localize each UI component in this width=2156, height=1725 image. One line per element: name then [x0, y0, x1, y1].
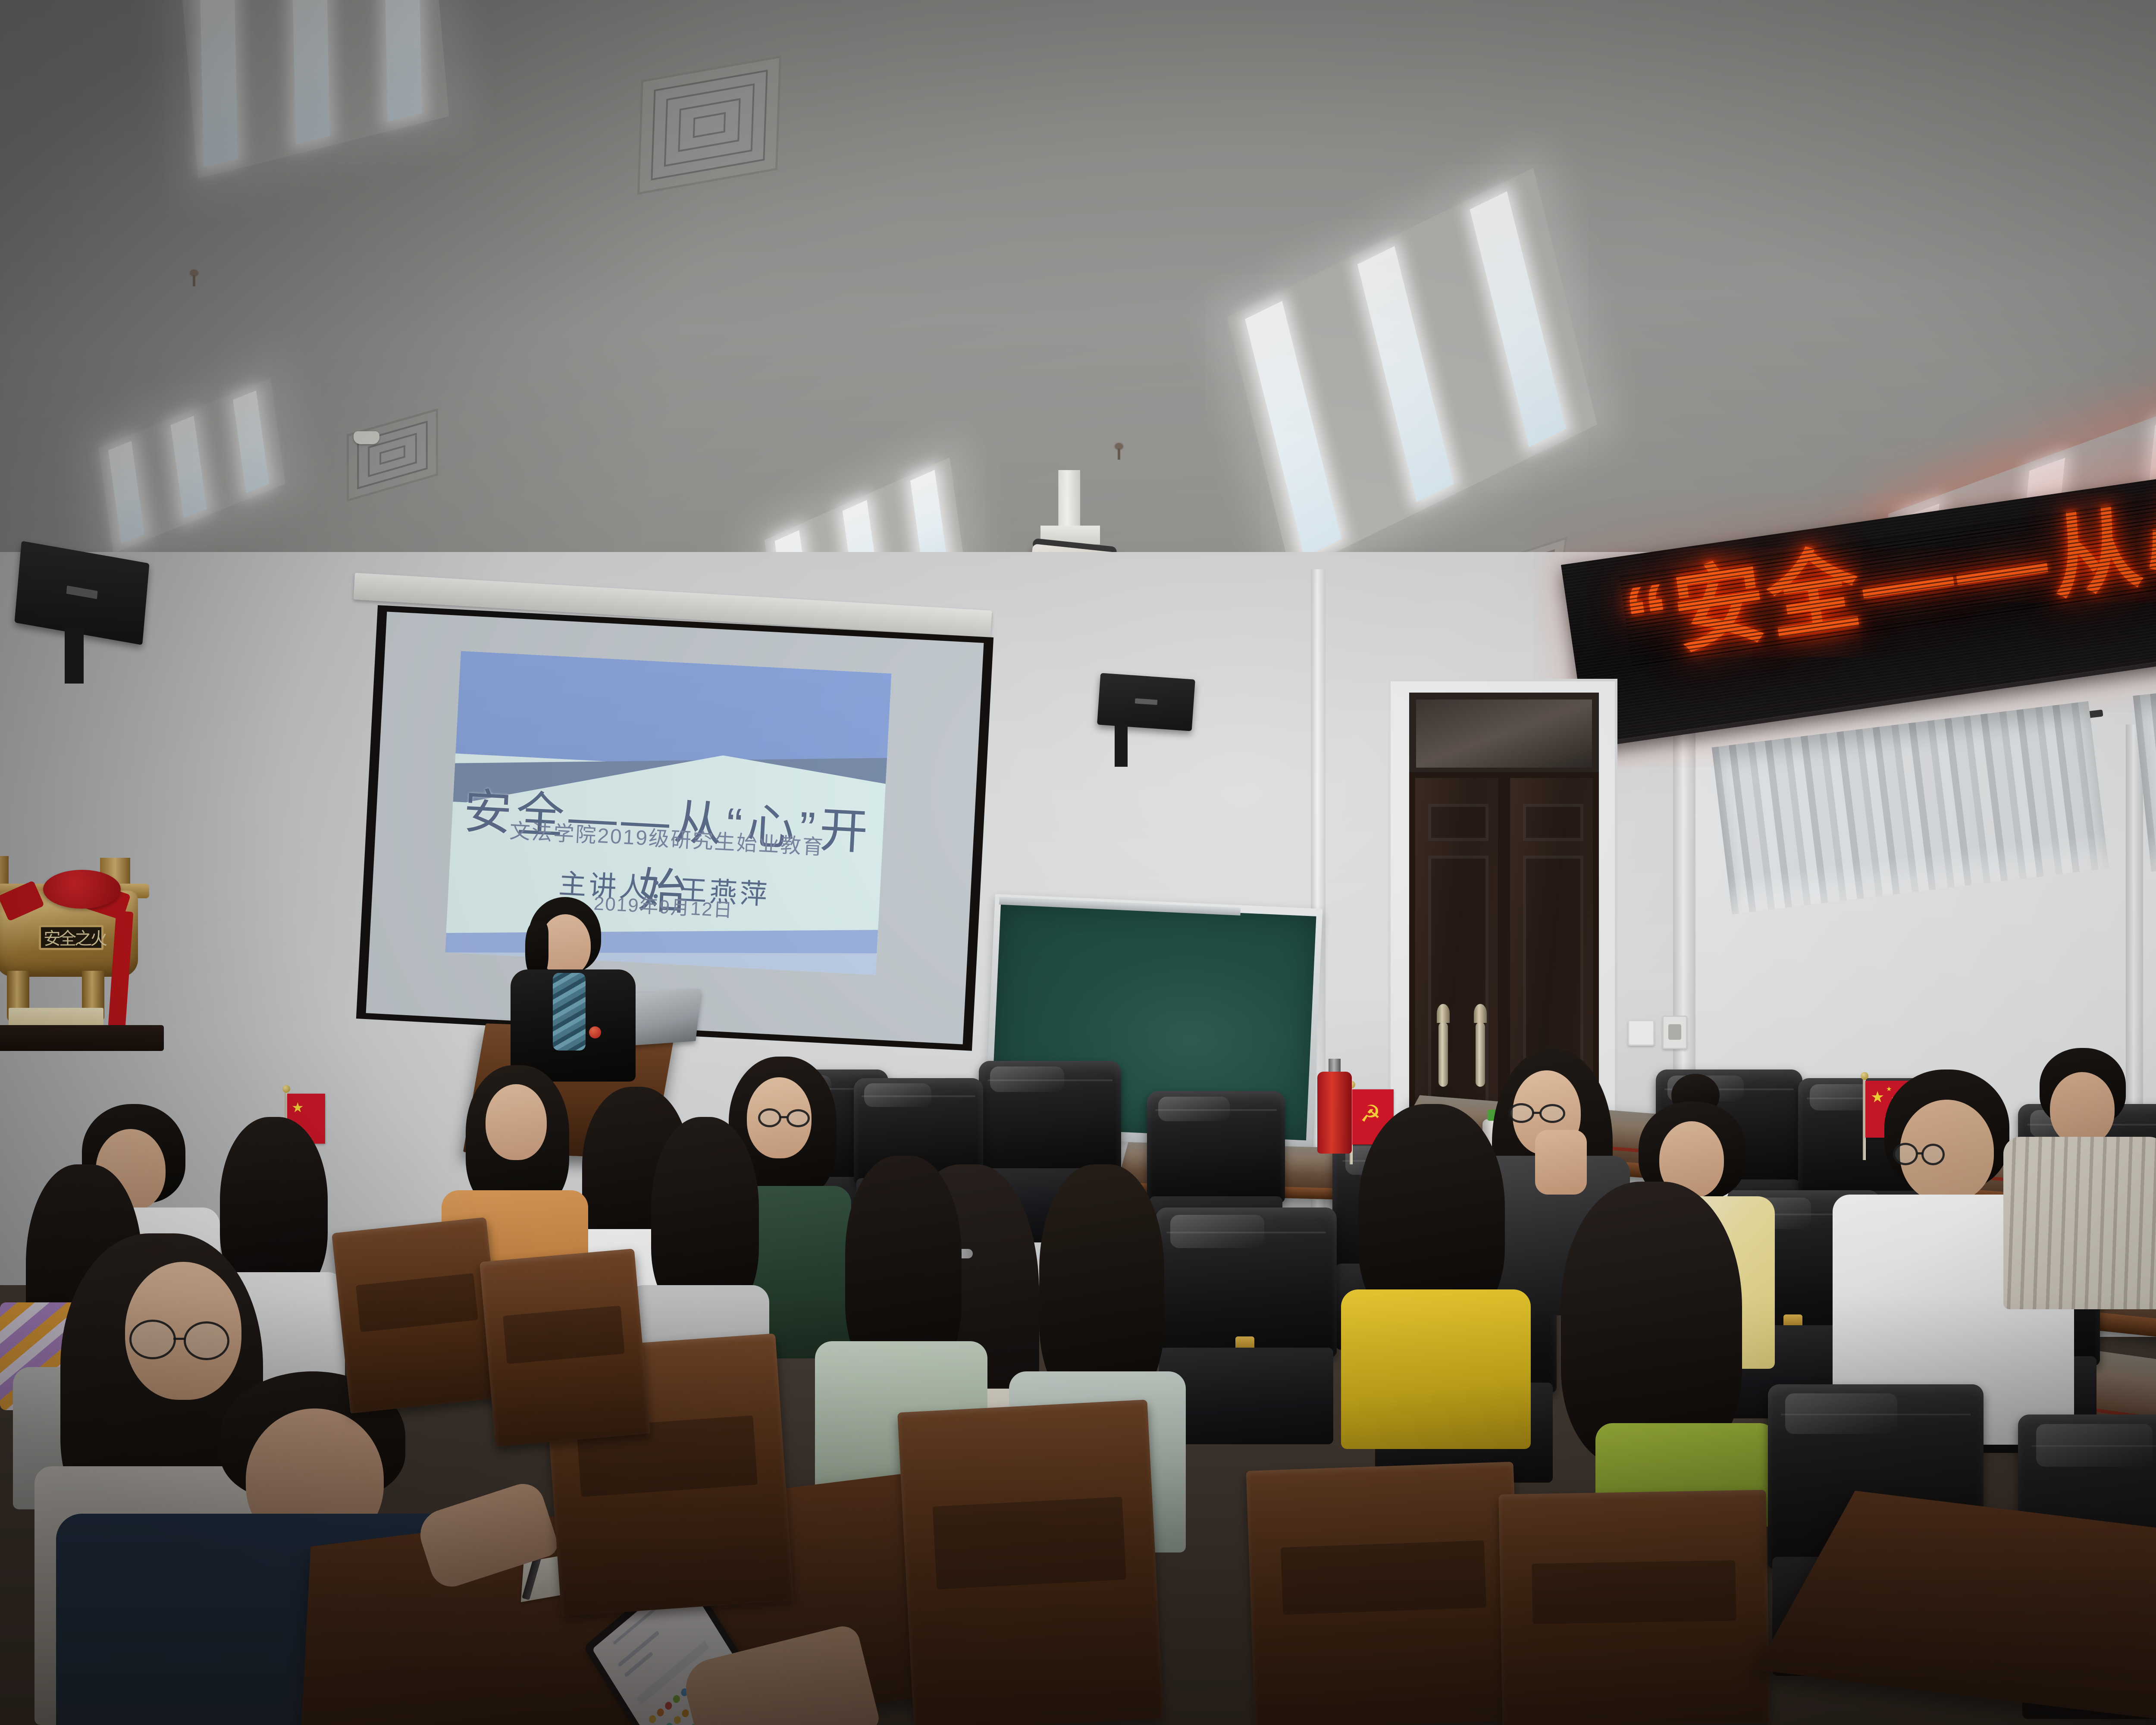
chair-back-slot — [356, 1273, 478, 1332]
wall-speaker-bracket-center — [1115, 724, 1128, 767]
audience-right-plaid-man — [1992, 1048, 2156, 1307]
brass-ding-trophy: 安全之火 — [0, 839, 164, 1054]
hair — [1039, 1164, 1164, 1406]
door-handle-finial-right — [1474, 1004, 1487, 1023]
chair-back-slot — [1532, 1560, 1736, 1625]
wall-speaker-center — [1097, 673, 1195, 731]
door-handle-left[interactable] — [1438, 1022, 1448, 1087]
wood-chair-back-5[interactable] — [332, 1217, 505, 1413]
audience-center-longhair-back — [1522, 1182, 1781, 1527]
wall-outlet-plate[interactable] — [1662, 1016, 1687, 1049]
presenter-scarf — [553, 973, 586, 1051]
ding-ribbon-bow — [43, 870, 121, 909]
ding-plaque-text: 安全之火 — [44, 929, 106, 949]
projector-mount-pole — [1058, 470, 1080, 530]
flag-pole-knob — [282, 1085, 290, 1093]
presenter-badge — [589, 1026, 601, 1038]
wood-chair-back-2[interactable] — [897, 1399, 1164, 1725]
light-switch-plate[interactable] — [1628, 1020, 1655, 1046]
projection-screen-surface: 安全——从“心”开始 文法学院2019级研究生始业教育 主讲人：王燕萍 2019… — [366, 612, 984, 1044]
projection-screen-frame: 安全——从“心”开始 文法学院2019级研究生始业教育 主讲人：王燕萍 2019… — [356, 605, 993, 1051]
slide-band-top — [455, 651, 891, 776]
fire-sprinkler-head-1 — [188, 270, 200, 289]
flag-big-star: ★ — [291, 1101, 304, 1114]
wall-speaker-bracket-left — [65, 627, 84, 684]
audience-center-yellow-top-woman — [1328, 1104, 1552, 1449]
door-handle-finial-left — [1437, 1004, 1450, 1023]
ceiling-shadow — [0, 0, 949, 647]
ding-display-base — [0, 1025, 164, 1051]
glasses-round — [129, 1320, 237, 1361]
ding-inscription-plaque: 安全之火 — [39, 925, 103, 950]
smoke-detector-2 — [354, 431, 379, 444]
head — [2050, 1072, 2115, 1145]
chair-backrest — [979, 1061, 1121, 1176]
speaker-brand-badge-center — [1134, 698, 1158, 705]
wood-chair-back-3[interactable] — [1246, 1462, 1523, 1725]
wood-chair-back-4[interactable] — [1498, 1490, 1770, 1725]
door-transom-window — [1409, 693, 1599, 775]
speaker-brand-badge — [66, 585, 98, 599]
chair-back-slot — [503, 1305, 624, 1364]
wood-chair-back-6[interactable] — [479, 1248, 650, 1447]
chair-back-slot — [932, 1497, 1126, 1590]
door-panel-upper-right — [1523, 804, 1583, 841]
glasses — [1893, 1143, 1949, 1169]
chair-back-slot — [1281, 1540, 1486, 1615]
presenter-wang-yanping — [505, 897, 647, 1078]
door-panel-upper-left — [1428, 804, 1489, 841]
fire-sprinkler-head-2 — [1113, 443, 1125, 462]
head — [486, 1084, 547, 1160]
torso-plaid-shirt — [2003, 1137, 2156, 1309]
lecture-hall-photo: 安全——从“心”开始 文法学院2019级研究生始业教育 主讲人：王燕萍 2019… — [0, 0, 2156, 1725]
torso-yellow — [1341, 1289, 1531, 1449]
